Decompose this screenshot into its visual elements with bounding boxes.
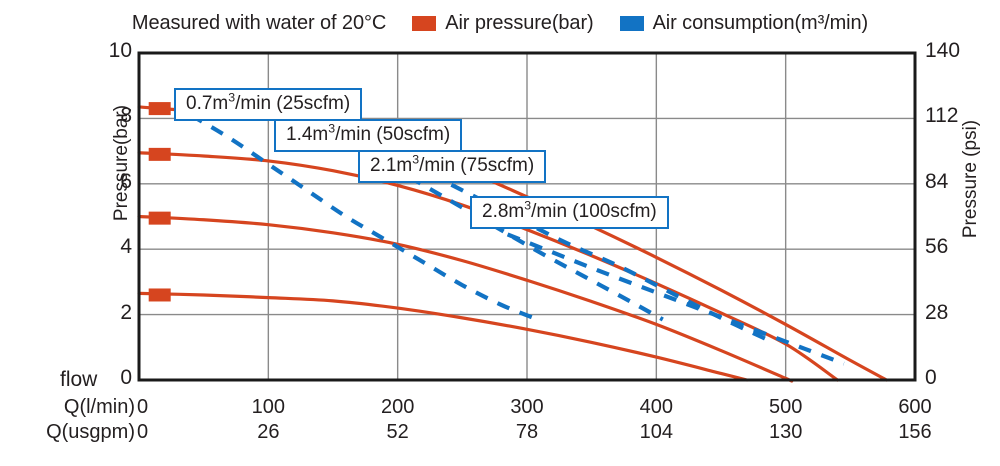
x-axis-lmin-label: Q(l/min) bbox=[5, 396, 135, 419]
y-tick-left-10: 10 bbox=[86, 39, 132, 63]
callout-2-8: 2.8m3/min (100scfm) bbox=[470, 196, 669, 229]
y-tick-right-112: 112 bbox=[925, 104, 985, 128]
y-tick-left-8: 8 bbox=[86, 104, 132, 128]
y-tick-left-4: 4 bbox=[86, 235, 132, 259]
x-tick-usgpm-52: 52 bbox=[363, 421, 433, 444]
x-tick-lmin-500: 500 bbox=[751, 396, 821, 419]
y-tick-right-0: 0 bbox=[925, 366, 985, 390]
marker-layer bbox=[149, 102, 171, 301]
series-line-1 bbox=[139, 153, 837, 380]
x-tick-usgpm-130: 130 bbox=[751, 421, 821, 444]
x-tick-usgpm-78: 78 bbox=[492, 421, 562, 444]
x-tick-usgpm-0: 0 bbox=[137, 421, 207, 444]
x-tick-usgpm-156: 156 bbox=[880, 421, 950, 444]
x-tick-lmin-300: 300 bbox=[492, 396, 562, 419]
x-axis-usgpm-label: Q(usgpm) bbox=[5, 421, 135, 444]
x-tick-lmin-600: 600 bbox=[880, 396, 950, 419]
callout-0-7: 0.7m3/min (25scfm) bbox=[174, 88, 362, 121]
y-tick-right-56: 56 bbox=[925, 235, 985, 259]
series-marker-square bbox=[149, 212, 171, 225]
flow-axis-label: flow bbox=[60, 368, 97, 392]
x-tick-usgpm-26: 26 bbox=[233, 421, 303, 444]
series-marker-square bbox=[149, 148, 171, 161]
callout-2-1: 2.1m3/min (75scfm) bbox=[358, 150, 546, 183]
series-layer bbox=[139, 107, 887, 381]
x-tick-lmin-400: 400 bbox=[621, 396, 691, 419]
y-tick-right-140: 140 bbox=[925, 39, 985, 63]
y-tick-left-2: 2 bbox=[86, 301, 132, 325]
y-tick-left-6: 6 bbox=[86, 170, 132, 194]
series-marker-square bbox=[149, 288, 171, 301]
pump-performance-chart: Measured with water of 20°C Air pressure… bbox=[0, 0, 1000, 466]
x-tick-lmin-200: 200 bbox=[363, 396, 433, 419]
callout-1-4: 1.4m3/min (50scfm) bbox=[274, 119, 462, 152]
x-tick-lmin-100: 100 bbox=[233, 396, 303, 419]
series-line-7 bbox=[508, 234, 844, 363]
x-tick-lmin-0: 0 bbox=[137, 396, 207, 419]
x-tick-usgpm-104: 104 bbox=[621, 421, 691, 444]
y-tick-right-28: 28 bbox=[925, 301, 985, 325]
series-marker-square bbox=[149, 102, 171, 115]
y-tick-right-84: 84 bbox=[925, 170, 985, 194]
